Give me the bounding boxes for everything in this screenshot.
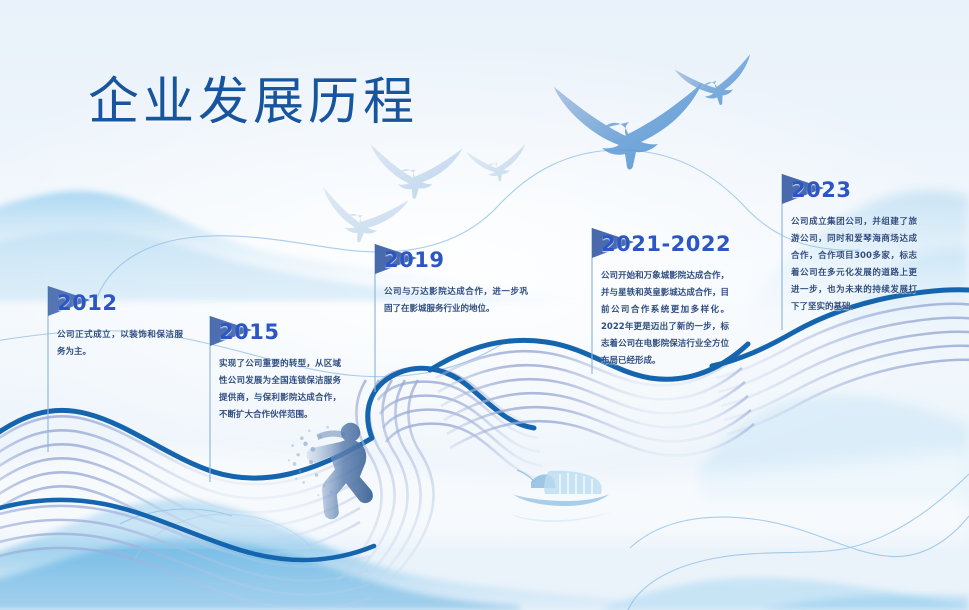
- poster-canvas: 企业发展历程 2012 公司正式成立，以装饰和保洁服务为主。 2015 实现了公…: [0, 0, 969, 610]
- milestone-year: 2015: [219, 322, 344, 343]
- milestone-2021-2022[interactable]: 2021-2022 公司开始和万象城影院达成合作，并与星轶和英皇影城达成合作，目…: [601, 234, 732, 370]
- milestone-description: 公司开始和万象城影院达成合作，并与星轶和英皇影城达成合作，目前公司合作系统更加多…: [601, 268, 729, 370]
- milestone-year: 2021-2022: [601, 234, 732, 255]
- milestone-year: 2012: [57, 293, 192, 314]
- milestone-description: 公司正式成立，以装饰和保洁服务为主。: [57, 327, 183, 361]
- milestone-2012[interactable]: 2012 公司正式成立，以装饰和保洁服务为主。: [57, 293, 192, 361]
- milestone-description: 公司成立集团公司，并组建了旅游公司，同时和爱琴海商场达成合作，合作项目300多家…: [791, 214, 917, 316]
- page-title: 企业发展历程: [88, 60, 418, 134]
- milestone-2015[interactable]: 2015 实现了公司重要的转型，从区域性公司发展为全国连锁保洁服务提供商，与保利…: [219, 322, 344, 424]
- milestone-2019[interactable]: 2019 公司与万达影院达成合作，进一步巩固了在影城服务行业的地位。: [384, 250, 531, 318]
- milestone-year: 2023: [791, 180, 920, 201]
- milestone-2023[interactable]: 2023 公司成立集团公司，并组建了旅游公司，同时和爱琴海商场达成合作，合作项目…: [791, 180, 920, 316]
- milestone-description: 公司与万达影院达成合作，进一步巩固了在影城服务行业的地位。: [384, 284, 528, 318]
- milestone-description: 实现了公司重要的转型，从区域性公司发展为全国连锁保洁服务提供商，与保利影院达成合…: [219, 356, 341, 424]
- milestone-year: 2019: [384, 250, 531, 271]
